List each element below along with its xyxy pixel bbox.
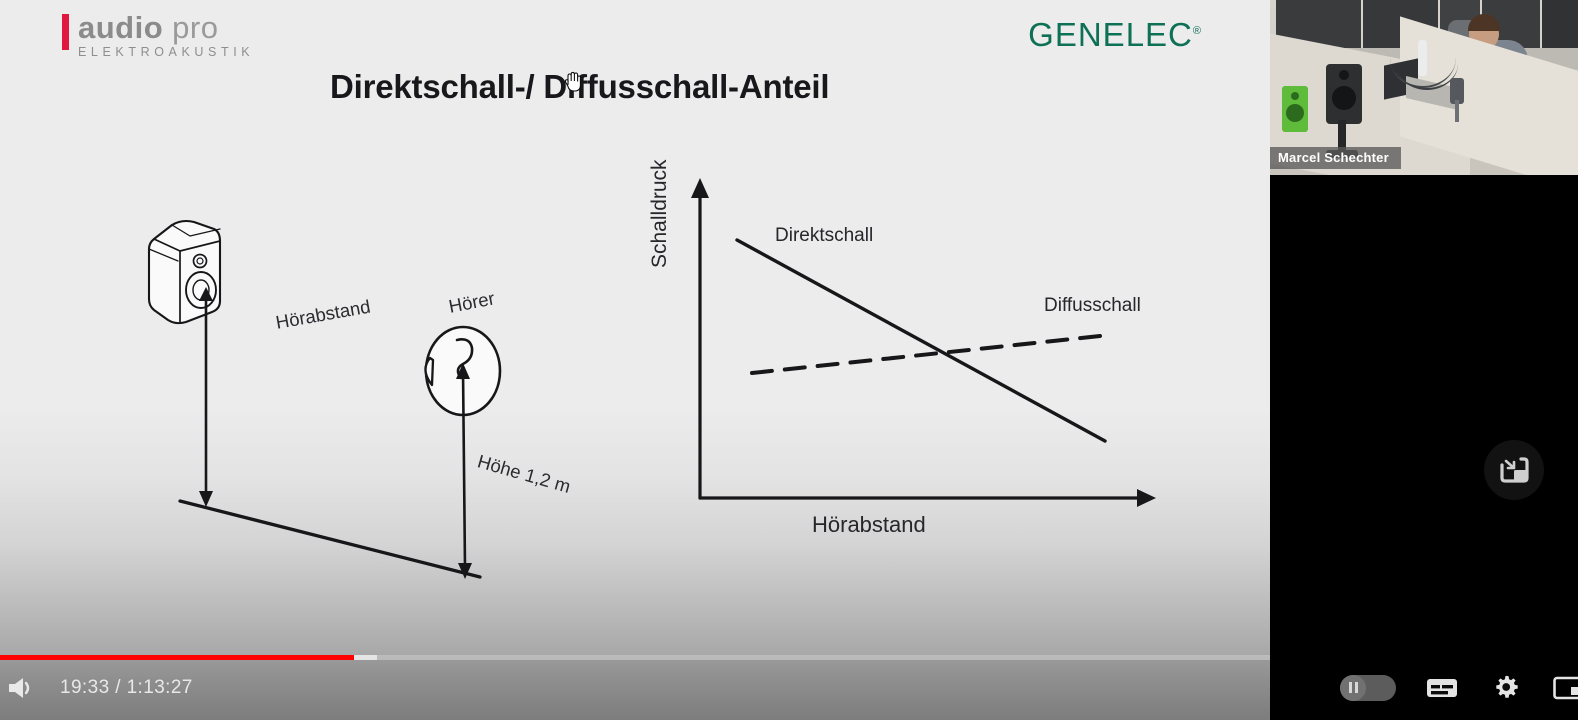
slide-title: Direktschall-/ Diffusschall-Anteil (330, 68, 829, 106)
registered-trademark-icon: ® (1193, 25, 1202, 37)
webcam-green-speaker-woofer (1286, 104, 1304, 122)
picture-in-picture-button[interactable] (1484, 440, 1544, 500)
chart-series-label-diffusschall: Diffusschall (1044, 295, 1141, 317)
pause-toggle-icon (1340, 675, 1366, 701)
slide-content[interactable]: audio pro ELEKTROAKUSTIK GENELEC® Direkt… (0, 0, 1270, 655)
speaker-icon (149, 221, 220, 323)
room-setup-diagram (120, 195, 640, 615)
logo-word-audio: audio (78, 12, 163, 44)
player-controls-bar: 19:33 / 1:13:27 (0, 655, 1578, 720)
arrow-head-down-speaker (199, 491, 213, 507)
audio-pro-logo: audio pro ELEKTROAKUSTIK (62, 12, 254, 59)
progress-bar-played (0, 655, 354, 660)
floor-line (180, 501, 480, 577)
miniplayer-button[interactable] (1552, 670, 1578, 706)
controls-right-group (1340, 655, 1578, 720)
genelec-wordmark: GENELEC (1028, 16, 1193, 53)
room-setup-drawing (120, 195, 640, 615)
chart-series-label-direktschall: Direktschall (775, 225, 873, 247)
logo-subtitle: ELEKTROAKUSTIK (78, 45, 254, 59)
presenter-webcam-overlay[interactable]: Marcel Schechter (1270, 0, 1578, 175)
chart-y-axis-label: Schalldruck (648, 159, 672, 268)
webcam-green-speaker-tweeter (1291, 92, 1299, 100)
webcam-microphone-stand (1455, 100, 1459, 122)
picture-in-picture-icon (1499, 456, 1529, 484)
presenter-name-badge: Marcel Schechter (1270, 147, 1401, 169)
autoplay-toggle-button[interactable] (1340, 670, 1396, 706)
webcam-black-speaker-woofer (1332, 86, 1356, 110)
direct-diffuse-chart (640, 170, 1200, 550)
chart-drawing (640, 170, 1200, 550)
gear-icon (1493, 675, 1519, 701)
settings-button[interactable] (1488, 670, 1524, 706)
genelec-logo: GENELEC® (1028, 16, 1202, 54)
right-letterbox-panel (1270, 175, 1578, 655)
logo-accent-bar (62, 14, 69, 50)
progress-bar-track[interactable] (0, 655, 1270, 660)
webcam-black-speaker-tweeter (1339, 70, 1349, 80)
time-display: 19:33 / 1:13:27 (60, 677, 193, 699)
toggle-pill (1340, 675, 1396, 701)
x-axis-arrow (1137, 489, 1156, 507)
chart-x-axis-label: Hörabstand (812, 512, 926, 538)
logo-word-pro: pro (172, 12, 218, 44)
video-player-root: audio pro ELEKTROAKUSTIK GENELEC® Direkt… (0, 0, 1578, 720)
miniplayer-icon (1553, 675, 1578, 701)
subtitles-icon (1426, 676, 1458, 700)
y-axis-arrow (691, 178, 709, 198)
subtitles-button[interactable] (1424, 670, 1460, 706)
volume-button[interactable] (4, 673, 40, 703)
volume-icon (4, 673, 40, 703)
